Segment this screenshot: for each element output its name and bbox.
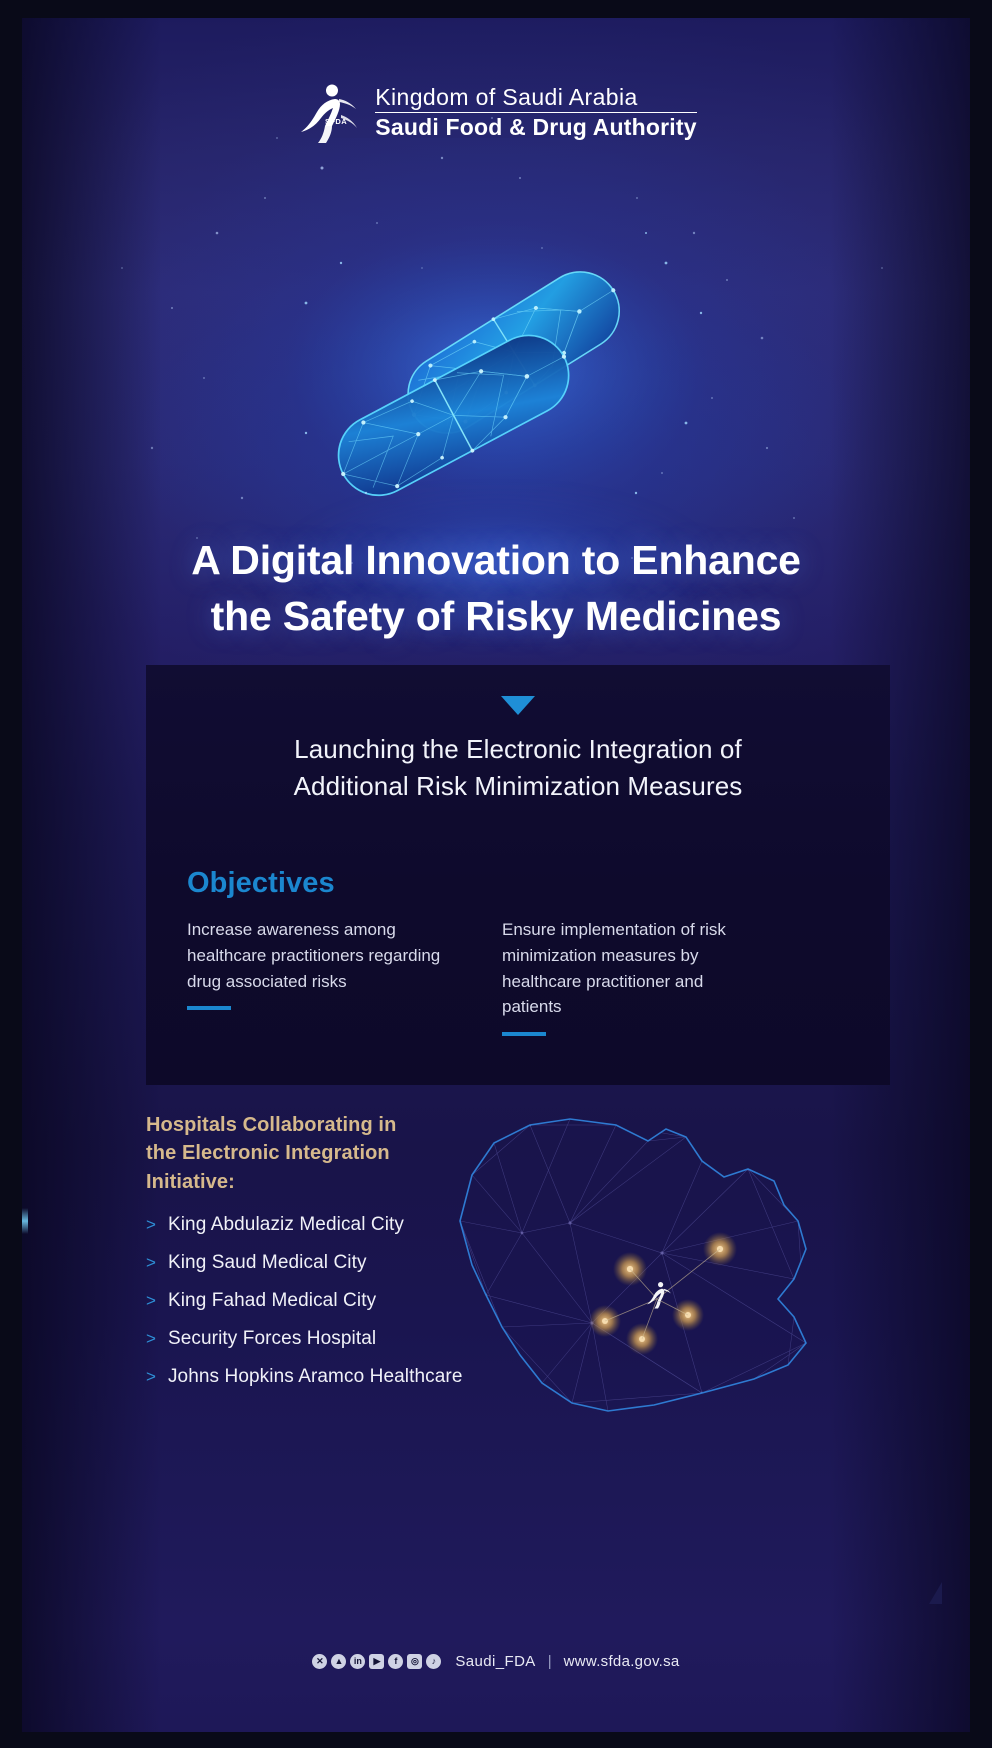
- title-line-2: the Safety of Risky Medicines: [22, 589, 970, 645]
- list-item: > King Abdulaziz Medical City: [146, 1214, 476, 1236]
- objective-item: Ensure implementation of risk minimizati…: [502, 917, 757, 1036]
- hospitals-heading-line-1: Hospitals Collaborating in: [146, 1111, 476, 1139]
- page-title: A Digital Innovation to Enhance the Safe…: [22, 533, 970, 645]
- header: SFDA Kingdom of Saudi Arabia Saudi Food …: [22, 80, 970, 144]
- social-handle: Saudi_FDA: [455, 1653, 535, 1670]
- card-subtitle-line-1: Launching the Electronic Integration of: [186, 731, 850, 768]
- logo-line-authority: Saudi Food & Drug Authority: [375, 113, 696, 139]
- snapchat-icon[interactable]: ▲: [331, 1654, 346, 1669]
- list-item: > King Saud Medical City: [146, 1252, 476, 1274]
- hospitals-section: Hospitals Collaborating in the Electroni…: [146, 1111, 476, 1404]
- hospitals-heading-line-2: the Electronic Integration: [146, 1139, 476, 1167]
- objective-text: Ensure implementation of risk minimizati…: [502, 917, 757, 1020]
- list-item: > Johns Hopkins Aramco Healthcare: [146, 1366, 476, 1388]
- objectives-columns: Increase awareness among healthcare prac…: [187, 917, 850, 1036]
- tiktok-icon[interactable]: ♪: [426, 1654, 441, 1669]
- facebook-icon[interactable]: f: [388, 1654, 403, 1669]
- chevron-right-icon: >: [146, 1292, 156, 1309]
- social-links[interactable]: ✕ ▲ in ▶ f ◎ ♪: [312, 1654, 441, 1669]
- card-subtitle: Launching the Electronic Integration of …: [186, 731, 850, 806]
- objectives-heading: Objectives: [187, 867, 335, 900]
- corner-arrow-decoration: [929, 1582, 942, 1604]
- logo-line-kingdom: Kingdom of Saudi Arabia: [375, 85, 696, 112]
- chevron-right-icon: >: [146, 1254, 156, 1271]
- wireframe-capsule-pills-icon: [246, 193, 746, 523]
- linkedin-icon[interactable]: in: [350, 1654, 365, 1669]
- hospital-name: King Saud Medical City: [168, 1252, 367, 1274]
- highlight-card: Launching the Electronic Integration of …: [146, 665, 890, 1085]
- list-item: > King Fahad Medical City: [146, 1290, 476, 1312]
- hospital-name: Johns Hopkins Aramco Healthcare: [168, 1366, 463, 1388]
- title-line-1: A Digital Innovation to Enhance: [22, 533, 970, 589]
- footer-separator: |: [548, 1653, 552, 1670]
- footer: ✕ ▲ in ▶ f ◎ ♪ Saudi_FDA | www.sfda.gov.…: [22, 1653, 970, 1670]
- hospitals-heading-line-3: Initiative:: [146, 1168, 476, 1196]
- chevron-right-icon: >: [146, 1368, 156, 1385]
- triangle-down-icon: [501, 696, 535, 715]
- hospital-name: Security Forces Hospital: [168, 1328, 376, 1350]
- objective-underline: [187, 1006, 231, 1010]
- left-edge-accent: [22, 1208, 28, 1234]
- poster-canvas: SFDA Kingdom of Saudi Arabia Saudi Food …: [22, 18, 970, 1732]
- hero-illustration: [22, 193, 970, 543]
- x-twitter-icon[interactable]: ✕: [312, 1654, 327, 1669]
- objective-underline: [502, 1032, 546, 1036]
- objective-text: Increase awareness among healthcare prac…: [187, 917, 442, 994]
- objective-item: Increase awareness among healthcare prac…: [187, 917, 442, 1036]
- website-url[interactable]: www.sfda.gov.sa: [564, 1653, 680, 1670]
- hospital-name: King Fahad Medical City: [168, 1290, 376, 1312]
- chevron-right-icon: >: [146, 1216, 156, 1233]
- chevron-right-icon: >: [146, 1330, 156, 1347]
- card-subtitle-line-2: Additional Risk Minimization Measures: [186, 768, 850, 805]
- youtube-icon[interactable]: ▶: [369, 1654, 384, 1669]
- list-item: > Security Forces Hospital: [146, 1328, 476, 1350]
- sfda-logo-icon: SFDA: [295, 80, 361, 144]
- poster-root: SFDA Kingdom of Saudi Arabia Saudi Food …: [0, 0, 992, 1748]
- hospitals-heading: Hospitals Collaborating in the Electroni…: [146, 1111, 476, 1196]
- hospital-name: King Abdulaziz Medical City: [168, 1214, 404, 1236]
- svg-text:SFDA: SFDA: [325, 117, 347, 126]
- logo-wordmark: Kingdom of Saudi Arabia Saudi Food & Dru…: [375, 85, 696, 139]
- hospitals-list: > King Abdulaziz Medical City > King Sau…: [146, 1214, 476, 1388]
- instagram-icon[interactable]: ◎: [407, 1654, 422, 1669]
